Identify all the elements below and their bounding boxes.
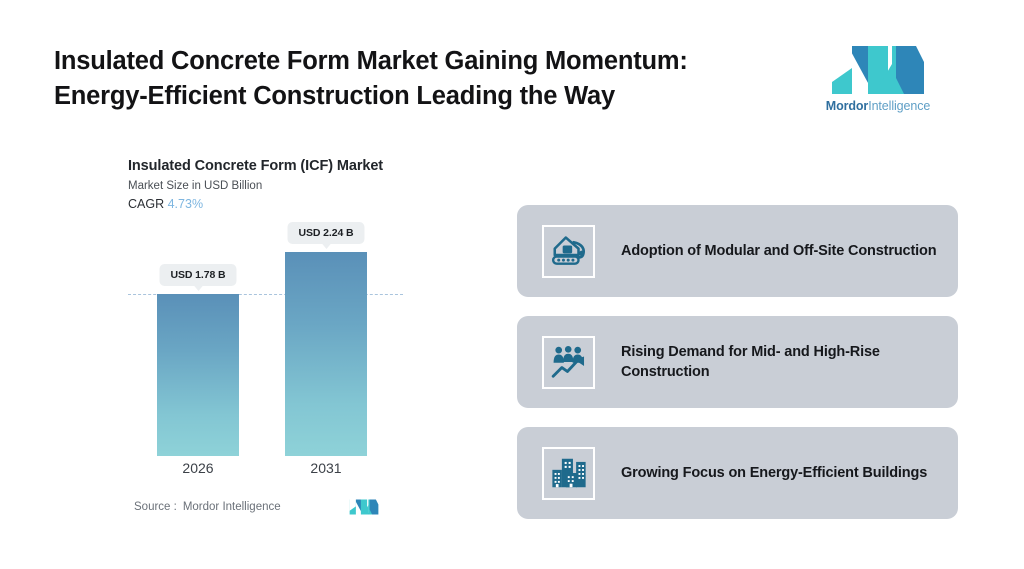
chart-subtitle: Market Size in USD Billion xyxy=(128,180,428,192)
chart-cagr: CAGR 4.73% xyxy=(128,197,428,211)
driver-card-label: Rising Demand for Mid- and High-Rise Con… xyxy=(621,342,938,382)
driver-card-modular-construction[interactable]: Adoption of Modular and Off-Site Constru… xyxy=(517,205,958,297)
chart-title: Insulated Concrete Form (ICF) Market xyxy=(128,158,428,174)
bar-2026[interactable] xyxy=(157,294,239,456)
chart-cagr-label: CAGR xyxy=(128,197,164,211)
city-buildings-icon xyxy=(550,455,588,491)
chart-source-label: Source : xyxy=(134,501,177,513)
bar-chart-plot-area: USD 1.78 B USD 2.24 B 2026 2031 xyxy=(128,224,418,456)
driver-icon-box xyxy=(542,225,595,278)
chart-cagr-value: 4.73% xyxy=(168,197,203,211)
excavator-icon xyxy=(550,234,588,268)
infographic-page: Insulated Concrete Form Market Gaining M… xyxy=(0,0,1024,569)
people-growth-icon xyxy=(550,344,588,380)
bar-value-tooltip-2026: USD 1.78 B xyxy=(159,264,236,286)
mi-logo-mark xyxy=(830,44,926,96)
mi-logo-word-intelligence: Intelligence xyxy=(868,99,930,113)
driver-icon-box xyxy=(542,447,595,500)
bar-value-tooltip-2031: USD 2.24 B xyxy=(287,222,364,244)
bar-2031[interactable] xyxy=(285,252,367,456)
mi-logo-wordmark: MordorIntelligence xyxy=(822,99,934,113)
driver-card-label: Adoption of Modular and Off-Site Constru… xyxy=(621,241,936,261)
page-title-line-2: Energy-Efficient Construction Leading th… xyxy=(54,79,784,114)
page-title: Insulated Concrete Form Market Gaining M… xyxy=(54,44,784,113)
x-axis-label-2026: 2026 xyxy=(157,460,239,476)
chart-source-row: Source : Mordor Intelligence xyxy=(134,498,424,516)
mordor-intelligence-logo: MordorIntelligence xyxy=(822,44,934,116)
page-title-line-1: Insulated Concrete Form Market Gaining M… xyxy=(54,44,784,79)
market-drivers-list: Adoption of Modular and Off-Site Constru… xyxy=(517,205,958,519)
chart-panel: Insulated Concrete Form (ICF) Market Mar… xyxy=(128,158,428,518)
driver-card-high-rise-demand[interactable]: Rising Demand for Mid- and High-Rise Con… xyxy=(517,316,958,408)
mi-logo-word-mordor: Mordor xyxy=(826,99,868,113)
driver-card-energy-efficient-buildings[interactable]: Growing Focus on Energy-Efficient Buildi… xyxy=(517,427,958,519)
mi-logo-mark-small xyxy=(349,498,379,516)
chart-source-name: Mordor Intelligence xyxy=(183,501,281,513)
x-axis-label-2031: 2031 xyxy=(285,460,367,476)
driver-card-label: Growing Focus on Energy-Efficient Buildi… xyxy=(621,463,927,483)
driver-icon-box xyxy=(542,336,595,389)
